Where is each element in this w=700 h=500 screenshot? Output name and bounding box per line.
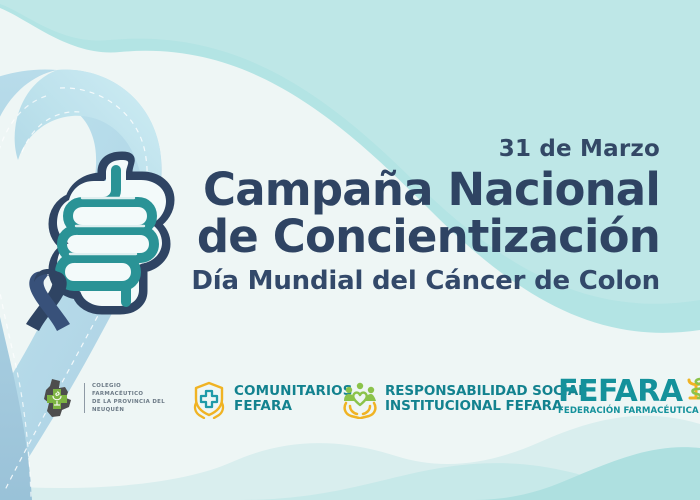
logo-comunitarios-fefara: COMUNITARIOS FEFARA bbox=[190, 376, 353, 422]
campaign-subtitle: Día Mundial del Cáncer de Colon bbox=[0, 268, 660, 294]
logo-colegio-text: COLEGIO FARMACÉUTICO DE LA PROVINCIA DEL… bbox=[92, 382, 165, 415]
cfpn-line-4: NEUQUÉN bbox=[92, 406, 165, 414]
campaign-poster: 31 de Marzo Campaña Nacional de Concient… bbox=[0, 0, 700, 500]
fefara-tagline: FEDERACIÓN FARMACÉUTICA bbox=[558, 407, 700, 416]
cfpn-line-3: DE LA PROVINCIA DEL bbox=[92, 398, 165, 406]
logo-comunitarios-text: COMUNITARIOS FEFARA bbox=[234, 384, 353, 414]
campaign-title-line-1: Campaña Nacional bbox=[0, 167, 660, 213]
fefara-wordmark: FEFARA bbox=[558, 378, 683, 407]
logo-fefara: FEFARA FEDERACIÓN FARMACÉUTICA bbox=[558, 374, 700, 420]
cfpn-line-2: FARMACÉUTICO bbox=[92, 390, 165, 398]
cross-mark bbox=[201, 391, 217, 407]
rsi-line-2: INSTITUCIONAL FEFARA bbox=[385, 399, 587, 414]
logo-rsi-text: RESPONSABILIDAD SOCIAL INSTITUCIONAL FEF… bbox=[385, 384, 587, 414]
comunitarios-line-1: COMUNITARIOS bbox=[234, 384, 353, 399]
bowl-of-hygieia-snake-staff-icon bbox=[685, 376, 700, 406]
comunitarios-line-2: FEFARA bbox=[234, 399, 353, 414]
logo-colegio-farmaceutico-neuquen: COLEGIO FARMACÉUTICO DE LA PROVINCIA DEL… bbox=[38, 375, 165, 421]
neuquen-province-map-with-pharmacy-cross-icon bbox=[38, 377, 78, 419]
people-heart-in-hands-icon bbox=[341, 379, 379, 419]
campaign-title-line-2: de Concientización bbox=[0, 214, 660, 260]
fefara-wordmark-row: FEFARA bbox=[558, 378, 700, 407]
people-figures bbox=[344, 383, 376, 401]
sponsor-logo-strip: COLEGIO FARMACÉUTICO DE LA PROVINCIA DEL… bbox=[0, 372, 700, 427]
shield-with-cross-and-hands-icon bbox=[190, 379, 228, 419]
cfpn-line-1: COLEGIO bbox=[92, 382, 165, 390]
logo-divider bbox=[84, 383, 85, 413]
campaign-date: 31 de Marzo bbox=[0, 138, 660, 161]
logo-responsabilidad-social-fefara: RESPONSABILIDAD SOCIAL INSTITUCIONAL FEF… bbox=[341, 376, 587, 422]
headline-block: 31 de Marzo Campaña Nacional de Concient… bbox=[0, 138, 660, 294]
heart-shape bbox=[353, 393, 367, 405]
fefara-lockup: FEFARA FEDERACIÓN FARMACÉUTICA bbox=[558, 378, 700, 416]
rsi-line-1: RESPONSABILIDAD SOCIAL bbox=[385, 384, 587, 399]
hygieia-snake bbox=[692, 379, 700, 398]
